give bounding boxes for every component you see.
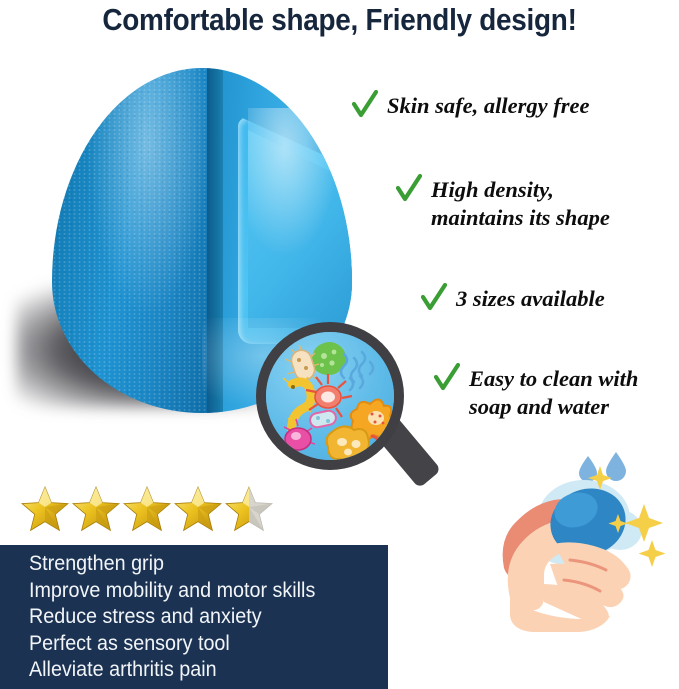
benefit-item: Alleviate arthritis pain (29, 657, 366, 684)
page-title: Comfortable shape, Friendly design! (34, 2, 645, 38)
feature-item-skin-safe: Skin safe, allergy free (352, 92, 589, 122)
star-rating (18, 483, 274, 545)
feature-label: 3 sizes available (456, 285, 605, 313)
magnifier-ring (256, 322, 404, 470)
feature-label: High density, maintains its shape (431, 176, 610, 232)
benefit-item: Strengthen grip (29, 551, 366, 578)
benefit-item: Perfect as sensory tool (29, 631, 366, 658)
egg-outer-shell (52, 68, 207, 413)
star-icon (171, 483, 225, 537)
germ-cluster-icon (266, 332, 394, 460)
check-icon (352, 90, 378, 120)
feature-label: Skin safe, allergy free (387, 92, 589, 120)
feature-item-high-density: High density, maintains its shape (396, 176, 610, 232)
benefits-panel: Strengthen grip Improve mobility and mot… (0, 545, 388, 689)
feature-label: Easy to clean with soap and water (469, 365, 638, 421)
star-icon (18, 483, 72, 537)
check-icon (396, 174, 422, 204)
feature-item-easy-clean: Easy to clean with soap and water (434, 365, 638, 421)
hands-washing-illustration (492, 448, 672, 638)
feature-item-three-sizes: 3 sizes available (421, 285, 605, 315)
benefit-item: Improve mobility and motor skills (29, 578, 366, 605)
star-icon (120, 483, 174, 537)
magnifier-germs-illustration (256, 322, 446, 507)
check-icon (421, 283, 447, 313)
benefit-item: Reduce stress and anxiety (29, 604, 366, 631)
star-icon-partial (222, 483, 276, 537)
magnifier-lens (266, 332, 394, 460)
star-icon (69, 483, 123, 537)
check-icon (434, 363, 460, 393)
infographic-canvas: Comfortable shape, Friendly design! (0, 0, 679, 689)
egg-surface-texture (52, 68, 207, 413)
